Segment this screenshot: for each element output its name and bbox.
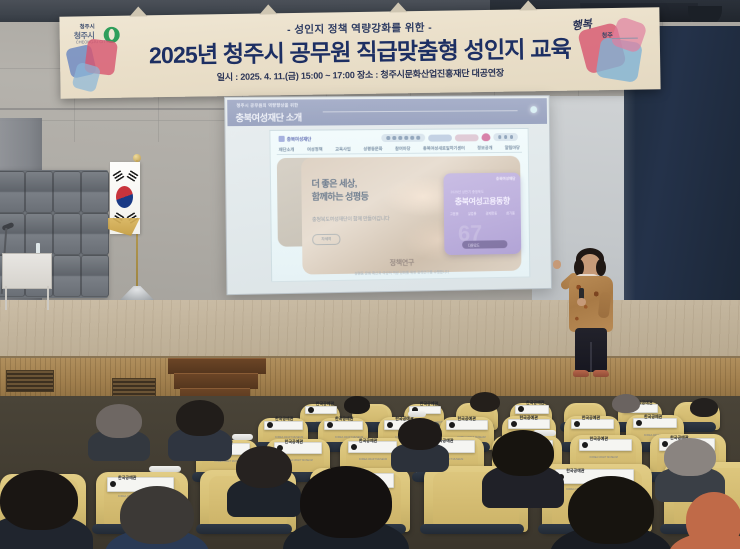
hero-cta-button: 자세히	[312, 234, 340, 245]
event-banner: 청주시 청주시 CHEONGJU CITY - 성인지 정책 역량강화를 위한 …	[59, 7, 660, 98]
taeguk-symbol	[116, 186, 133, 208]
site-logo-label: 충북여성재단	[287, 137, 312, 142]
presenter-raised-hand	[553, 260, 561, 269]
attendee-head	[398, 418, 442, 450]
seat-label-name: 한국공예관	[335, 416, 353, 421]
report-card: 충북여성재단 2025년 상반기 충청북도 충북여성고용동향 고용률실업률경제활…	[443, 173, 521, 255]
presenter	[555, 248, 629, 382]
site-banner-chip	[454, 134, 478, 141]
site-nav-item: 성평등문화	[363, 146, 382, 152]
stage-vent	[6, 370, 54, 392]
seat-armrest	[420, 524, 524, 534]
acoustic-panel	[53, 213, 81, 255]
site-utility-bar	[381, 133, 518, 142]
slide-kicker: 청주시 공무원의 역량향상을 위한	[236, 102, 298, 108]
seat-label-name: 한국공예관	[285, 439, 303, 444]
seat-label-name: 한국공예관	[275, 416, 293, 421]
attendee-head	[686, 492, 740, 548]
craft-museum-logo-icon	[582, 442, 588, 448]
card-download-label: 다운로드	[468, 242, 480, 247]
craft-museum-logo-icon	[110, 481, 116, 487]
slide-header: 청주시 공무원의 역량향상을 위한 충북여성재단 소개	[227, 98, 547, 126]
card-meta-item: 고용률	[450, 211, 459, 216]
attendee-head	[612, 394, 640, 413]
presenter-hand	[577, 298, 586, 306]
acoustic-panel	[53, 255, 81, 297]
seat-armrest	[196, 524, 292, 534]
seat-label-name: 한국공예관	[316, 401, 334, 406]
craft-museum-logo-icon	[351, 444, 357, 450]
attendee-head	[470, 392, 500, 412]
smartphone-on-seat[interactable]	[408, 411, 426, 417]
card-kicker: 2025년 상반기 충청북도	[451, 189, 484, 194]
presenter-shoe	[593, 370, 609, 377]
site-nav-item: 재단소개	[279, 147, 295, 153]
slide-website-screenshot: 충북여성재단 재단소개여성정책교육사업성평등문화참여마당충북여성새로일하기센터정…	[269, 128, 530, 282]
site-social-icons	[381, 134, 424, 142]
seat-reservation-label: 한국공예관KOREA CRAFT MUSEUM	[324, 421, 363, 431]
seat-label-name: 한국공예관	[526, 400, 544, 405]
acoustic-panel	[53, 171, 81, 213]
slide-header-dot	[530, 106, 537, 113]
card-title: 충북여성고용동향	[444, 195, 521, 207]
card-meta-item: 실업률	[468, 211, 477, 216]
site-nav-item: 정보공개	[477, 145, 492, 151]
seat-label-name: 한국공예관	[457, 416, 475, 421]
acoustic-panel	[81, 171, 109, 213]
attendee-head	[492, 430, 554, 476]
stage-floor-grain	[0, 300, 740, 362]
hero-subtext: 충청북도여성재단이 함께 만들어갑니다	[312, 215, 390, 223]
attendee-head	[300, 466, 392, 538]
site-nav-item: 알림마당	[505, 145, 520, 151]
projection-screen: 청주시 공무원의 역량향상을 위한 충북여성재단 소개 충북여성재단 재단소개여…	[224, 95, 552, 295]
hero-headline: 더 좋은 세상, 함께하는 성평등	[311, 177, 368, 204]
smartphone-on-seat[interactable]	[149, 466, 180, 472]
site-logo: 충북여성재단	[279, 136, 312, 143]
attendee-head	[344, 396, 370, 414]
seat-label-name: 한국공예관	[519, 415, 537, 420]
seat-reservation-label: 한국공예관KOREA CRAFT MUSEUM	[264, 421, 303, 431]
site-nav-item: 교육사업	[335, 146, 351, 152]
presenter-hair-side	[596, 259, 606, 276]
seat-label-name: 한국공예관	[118, 475, 136, 480]
attendee-head	[690, 398, 718, 417]
card-meta-row: 고용률실업률경제활동참가율	[450, 210, 515, 216]
site-search-icons	[493, 133, 518, 141]
card-download-button: 다운로드	[462, 240, 507, 249]
attendee-head	[176, 400, 224, 436]
smartphone-on-seat[interactable]	[232, 434, 253, 440]
craft-museum-logo-icon	[449, 422, 455, 428]
site-nav-item: 충북여성새로일하기센터	[423, 145, 465, 151]
hero-headline-line2: 함께하는 성평등	[312, 191, 369, 202]
site-banner-chip	[428, 134, 452, 141]
banner-hanger	[519, 0, 537, 10]
card-meta-item: 참가율	[506, 210, 515, 215]
wall-seam	[0, 108, 250, 110]
hero-headline-line1: 더 좋은 세상,	[311, 178, 356, 189]
seat-reservation-label: 한국공예관KOREA CRAFT MUSEUM	[305, 406, 337, 414]
craft-museum-logo-icon	[636, 420, 642, 426]
card-logo: 충북여성재단	[496, 177, 516, 182]
seat-label-name: 한국공예관	[590, 436, 608, 441]
attendee-head	[568, 476, 654, 544]
seat-label-name: 한국공예관	[420, 401, 438, 406]
photo-scene: 청주시 청주시 CHEONGJU CITY - 성인지 정책 역량강화를 위한 …	[0, 0, 740, 549]
brand-handwritten: 행복	[571, 15, 593, 33]
craft-museum-logo-icon	[387, 422, 393, 428]
banner-hanger	[389, 2, 407, 12]
attendee-head	[664, 438, 716, 476]
seat-label-sub: KOREA CRAFT MUSEUM	[359, 458, 387, 461]
slide-title: 충북여성재단 소개	[235, 111, 301, 125]
craft-museum-logo-icon	[327, 422, 333, 428]
banner-hanger	[259, 4, 277, 14]
seat-reservation-label: 한국공예관KOREA CRAFT MUSEUM	[348, 441, 398, 453]
craft-museum-logo-icon	[267, 422, 273, 428]
attendee-head	[0, 470, 78, 530]
seat-label-name: 한국공예관	[566, 468, 584, 473]
seat-reservation-label: 한국공예관KOREA CRAFT MUSEUM	[579, 439, 633, 452]
presenter-trousers	[575, 328, 607, 372]
heart-icon	[481, 133, 490, 141]
site-footer-section: 정책연구 성평등 문화 확산과 여성의 역량 강화를 위한 정책연구를 수행합니…	[272, 256, 529, 278]
banner-hanger	[129, 6, 147, 16]
attendee-head	[236, 446, 292, 488]
presenter-shoe	[573, 370, 589, 377]
craft-museum-logo-icon	[511, 421, 517, 427]
site-nav-item: 참여마당	[395, 146, 410, 152]
acoustic-panel	[0, 171, 25, 213]
card-meta-item: 경제활동	[486, 211, 498, 216]
attendee-head	[120, 486, 194, 544]
seat-label-name: 한국공예관	[644, 414, 662, 419]
acoustic-panel	[81, 255, 109, 297]
slide-header-rule	[323, 110, 518, 112]
craft-museum-logo-icon	[308, 407, 314, 413]
acoustic-panel	[25, 171, 53, 213]
seat-label-name: 한국공예관	[359, 438, 377, 443]
banner-brand-right: 행복 청주	[567, 11, 654, 86]
acoustic-panel	[81, 213, 109, 255]
site-nav-item: 여성정책	[307, 147, 323, 153]
craft-museum-logo-icon	[574, 421, 580, 427]
attendee-head	[96, 404, 142, 438]
side-table	[2, 253, 52, 289]
seat-label-name: 한국공예관	[582, 415, 600, 420]
